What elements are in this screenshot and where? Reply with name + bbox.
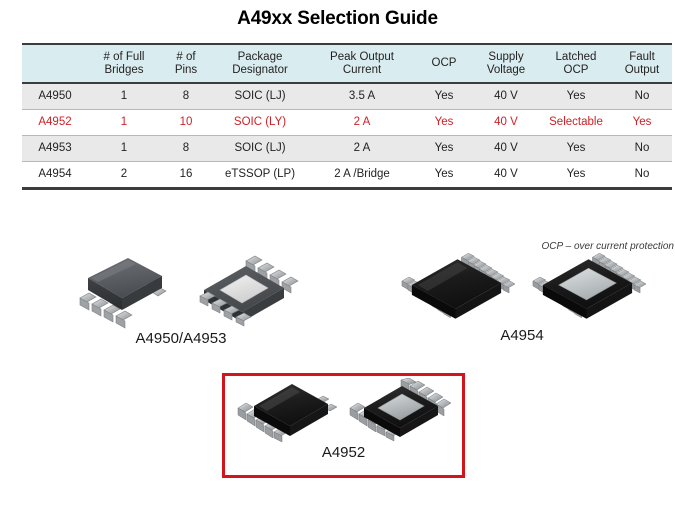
column-header-pins: # of Pins	[160, 44, 212, 83]
cell-fault-output: Yes	[612, 110, 672, 136]
figure-caption-a4950-a4953: A4950/A4953	[55, 330, 307, 347]
table-row: A4950 1 8 SOIC (LJ) 3.5 A Yes 40 V Yes N…	[22, 83, 672, 110]
cell-package: SOIC (LJ)	[212, 136, 308, 162]
cell-pins: 8	[160, 83, 212, 110]
soic8-top-view-icon	[58, 250, 174, 330]
figure-a4952-highlighted: A4952	[222, 373, 465, 478]
cell-supply-voltage: 40 V	[472, 162, 540, 189]
figure-caption-a4952: A4952	[225, 444, 462, 461]
column-header-supply-voltage: Supply Voltage	[472, 44, 540, 83]
column-header-latched-ocp: Latched OCP	[540, 44, 612, 83]
cell-peak-current: 2 A /Bridge	[308, 162, 416, 189]
cell-supply-voltage: 40 V	[472, 110, 540, 136]
figure-a4954: A4954	[398, 245, 646, 344]
column-header-ocp: OCP	[416, 44, 472, 83]
cell-part: A4953	[22, 136, 88, 162]
cell-peak-current: 2 A	[308, 110, 416, 136]
column-header-fault-output: Fault Output	[612, 44, 672, 83]
cell-full-bridges: 1	[88, 83, 160, 110]
cell-peak-current: 3.5 A	[308, 83, 416, 110]
cell-ocp: Yes	[416, 162, 472, 189]
package-images-etssop16	[398, 245, 646, 327]
table-row: A4953 1 8 SOIC (LJ) 2 A Yes 40 V Yes No	[22, 136, 672, 162]
cell-package: SOIC (LJ)	[212, 83, 308, 110]
cell-part: A4952	[22, 110, 88, 136]
cell-pins: 16	[160, 162, 212, 189]
cell-fault-output: No	[612, 136, 672, 162]
column-header-package-designator: Package Designator	[212, 44, 308, 83]
column-header-part	[22, 44, 88, 83]
package-images-msop10	[225, 376, 462, 442]
cell-fault-output: No	[612, 83, 672, 110]
table-header-row: # of Full Bridges # of Pins Package Desi…	[22, 44, 672, 83]
cell-supply-voltage: 40 V	[472, 136, 540, 162]
table-row: A4952 1 10 SOIC (LY) 2 A Yes 40 V Select…	[22, 110, 672, 136]
cell-pins: 8	[160, 136, 212, 162]
msop10-top-view-icon	[236, 378, 340, 442]
cell-ocp: Yes	[416, 136, 472, 162]
msop10-bottom-view-icon	[348, 378, 452, 442]
column-header-peak-output-current: Peak Output Current	[308, 44, 416, 83]
figure-a4950-a4953: A4950/A4953	[55, 248, 307, 347]
table-row: A4954 2 16 eTSSOP (LP) 2 A /Bridge Yes 4…	[22, 162, 672, 189]
cell-full-bridges: 1	[88, 110, 160, 136]
figure-caption-a4954: A4954	[398, 327, 646, 344]
cell-ocp: Yes	[416, 110, 472, 136]
cell-package: eTSSOP (LP)	[212, 162, 308, 189]
cell-pins: 10	[160, 110, 212, 136]
cell-latched-ocp: Yes	[540, 83, 612, 110]
cell-full-bridges: 1	[88, 136, 160, 162]
column-header-full-bridges: # of Full Bridges	[88, 44, 160, 83]
cell-part: A4954	[22, 162, 88, 189]
cell-fault-output: No	[612, 162, 672, 189]
cell-peak-current: 2 A	[308, 136, 416, 162]
cell-latched-ocp: Yes	[540, 136, 612, 162]
etssop16-top-view-icon	[398, 245, 515, 327]
cell-ocp: Yes	[416, 83, 472, 110]
cell-package: SOIC (LY)	[212, 110, 308, 136]
cell-part: A4950	[22, 83, 88, 110]
cell-supply-voltage: 40 V	[472, 83, 540, 110]
etssop16-bottom-view-icon	[529, 245, 646, 327]
package-images-soic8	[55, 248, 307, 330]
soic8-bottom-view-icon	[188, 250, 304, 330]
cell-latched-ocp: Yes	[540, 162, 612, 189]
cell-latched-ocp: Selectable	[540, 110, 612, 136]
page-title: A49xx Selection Guide	[0, 8, 675, 30]
selection-guide-table: # of Full Bridges # of Pins Package Desi…	[22, 43, 652, 190]
cell-full-bridges: 2	[88, 162, 160, 189]
